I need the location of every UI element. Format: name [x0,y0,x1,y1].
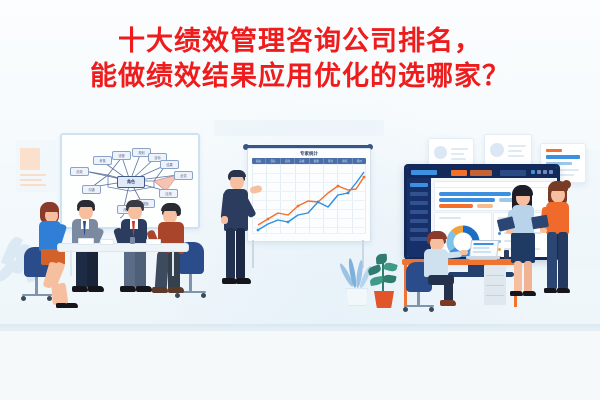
dashboard-tab-1[interactable] [500,170,526,176]
legend-dot-1 [498,232,501,235]
legend-dot-3 [498,248,501,251]
table-cup [130,237,135,244]
table-paper-1 [78,238,94,245]
wall-panel-center [214,120,384,136]
sidebar-item-3[interactable] [410,210,428,214]
sidebar-item-2[interactable] [410,201,428,205]
dashboard-sidebar [407,178,431,257]
wall-note-line-1 [20,174,46,176]
report-card-header [546,149,562,152]
board-line-chart [252,164,366,234]
progress-bar-1 [439,198,495,202]
dashboard-tab-0b[interactable] [470,170,492,176]
presentation-board: 专家统计 指标 目标 实际 完成 权重 得分 排名 评价 [247,148,371,242]
board-grid [252,164,366,234]
floor-line [0,330,600,331]
dashboard-tab-0[interactable] [451,170,467,176]
mind-map-node-7: 反馈 [174,171,193,180]
conference-table [57,243,189,252]
wall-note-line-3 [20,184,46,186]
board-leg-left [252,240,254,268]
table-paper-3 [146,239,161,245]
floor [0,330,600,400]
avatar-icon [434,146,447,159]
board-title: 专家统计 [248,151,370,157]
dashboard-logo [411,170,437,175]
mind-map-node-6: 结果 [160,160,179,169]
desk-cup [504,250,509,259]
page-title: 十大绩效管理咨询公司排名， 能做绩效结果应用优化的选哪家？ [0,24,600,94]
mind-map-node-4: 绩效 [70,167,89,176]
wall-note-orange [20,148,40,170]
sidebar-item-5[interactable] [410,228,428,232]
table-paper-2 [100,239,114,245]
avatar-icon [490,143,504,157]
mind-map-node-5: 沟通 [82,185,101,194]
progress-bar-2 [439,204,473,208]
sidebar-item-1[interactable] [410,192,428,196]
poster-canvas: 十大绩效管理咨询公司排名， 能做绩效结果应用优化的选哪家？ 角色 流程 [0,0,600,400]
progress-bar-0 [439,192,511,196]
table-leg-left [70,250,72,276]
title-line-2: 能做绩效结果应用优化的选哪家？ [0,58,600,94]
sidebar-item-4[interactable] [410,219,428,223]
window-controls[interactable] [531,170,553,174]
mind-map-node-3: 考核 [93,156,112,165]
sidebar-item-0[interactable] [410,183,428,187]
table-leg-right [172,250,174,276]
mind-map-center-node: 角色 [117,176,145,188]
profile-card-2[interactable] [484,134,532,166]
progress-card [434,187,554,211]
laptop-base [466,256,500,259]
title-line-1: 十大绩效管理咨询公司排名， [0,24,600,58]
mind-map-node-0: 流程 [112,151,131,160]
sidebar-item-6[interactable] [410,237,428,241]
desk-cabinet [484,265,506,305]
mind-map-node-8: 应用 [159,189,178,198]
dashboard-topbar [407,167,557,178]
wall-note-line-2 [20,179,42,181]
